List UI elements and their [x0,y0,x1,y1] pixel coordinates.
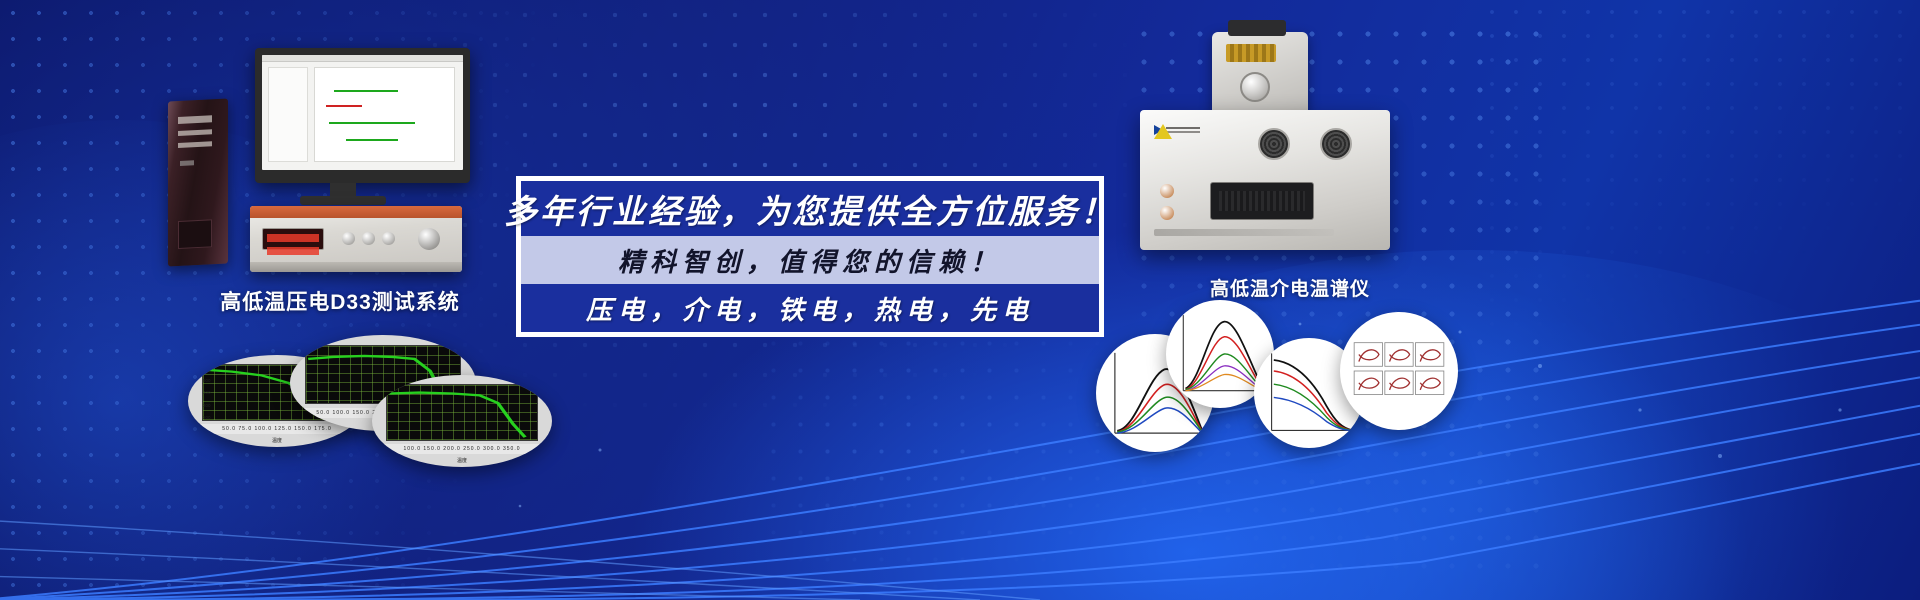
chart-thumb-hysteresis-grid [1340,312,1458,430]
slogan-line-2: 精科智创，值得您的信赖！ [521,236,1099,284]
warning-triangle-icon [1154,124,1172,139]
pc-tower-icon [168,98,228,266]
chart-thumb-3-xlabel: 温度 [372,457,552,464]
chart-thumb-1-yaxis: 600500400300200 [192,364,212,421]
product-left-label: 高低温压电D33测试系统 [150,286,530,316]
control-button-1 [1160,184,1174,198]
monitor-screen [262,55,463,170]
slogan-line-3: 压电，介电，铁电，热电，先电 [521,284,1099,332]
product-left-photo [150,30,530,280]
display-panel [1210,182,1314,220]
vent-icon-2 [1320,128,1352,160]
slogan-line-1: 多年行业经验，为您提供全方位服务！ [521,181,1099,236]
product-right: 高低温介电温谱仪 [1130,20,1450,301]
monitor-stand [300,196,386,205]
main-chassis-icon [1140,110,1390,250]
promotional-banner: 高低温压电D33测试系统 600500400300200 50.0 75.0 1… [0,0,1920,600]
chart-thumb-3-xaxis: 100.0 150.0 200.0 250.0 300.0 350.0 [379,444,545,454]
monitor-icon [255,48,470,183]
chart-thumb-1-xlabel: 温度 [188,437,366,444]
vent-icon-1 [1258,128,1290,160]
product-left: 高低温压电D33测试系统 [150,30,530,316]
control-button-2 [1160,206,1174,220]
laser-head-icon [1212,32,1308,114]
product-right-label: 高低温介电温谱仪 [1130,274,1450,301]
chart-thumb-d33-3: 100.0 150.0 200.0 250.0 300.0 350.0 温度 [372,375,552,467]
product-right-photo [1130,20,1450,270]
controller-instrument-icon [250,206,462,272]
slogan-panel: 多年行业经验，为您提供全方位服务！ 精科智创，值得您的信赖！ 压电，介电，铁电，… [516,176,1104,337]
